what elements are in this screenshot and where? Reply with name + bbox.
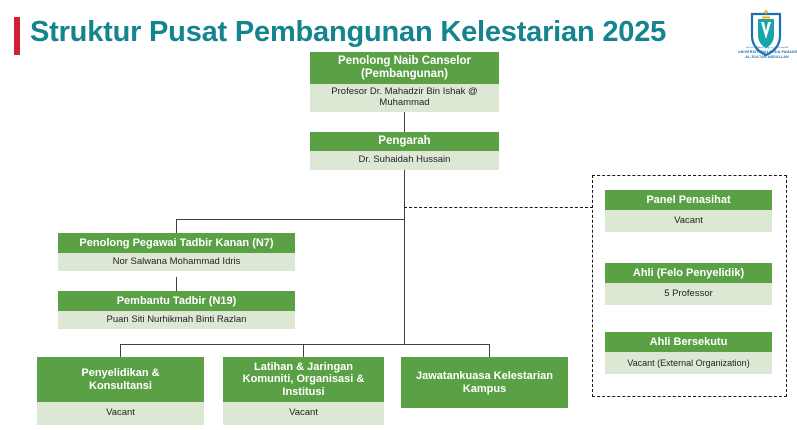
node-header: Penyelidikan & Konsultansi: [37, 357, 204, 402]
node-person-name: Vacant: [605, 210, 772, 232]
connector-pengarah-to-admin: [176, 219, 405, 220]
connector-pnc-to-pengarah: [404, 112, 405, 132]
node-header: Ahli (Felo Penyelidik): [605, 263, 772, 283]
node-header: Pengarah: [310, 132, 499, 151]
title-accent-bar: [14, 17, 20, 55]
page-title: Struktur Pusat Pembangunan Kelestarian 2…: [30, 16, 666, 49]
node-title-line2: (Pembangunan): [361, 68, 448, 81]
node-title-line3: Institusi: [282, 386, 324, 398]
logo-line1-text: UNIVERSITI MALAYSIA PAHANG: [738, 50, 796, 54]
connector-pengarah-trunk: [404, 170, 405, 344]
connector-bottom-bus: [120, 344, 490, 345]
connector-ppt-to-pembantu: [176, 277, 177, 291]
node-title-line1: Jawatankuasa Kelestarian: [416, 370, 553, 382]
node-ahli-felo-penyelidik[interactable]: Ahli (Felo Penyelidik) 5 Professor: [605, 263, 772, 305]
node-title-line1: Penyelidikan &: [81, 367, 159, 379]
connector-drop-penyelidikan: [120, 344, 121, 358]
node-penyelidikan-konsultansi[interactable]: Penyelidikan & Konsultansi Vacant: [37, 357, 204, 425]
connector-drop-latihan: [303, 344, 304, 358]
node-header: Panel Penasihat: [605, 190, 772, 210]
node-title-line2: Kampus: [463, 383, 506, 395]
logo-arabic-text: الجامعة الماليزية بهانج السلطان عبد الله: [738, 46, 796, 49]
node-header: Pembantu Tadbir (N19): [58, 291, 295, 311]
node-title-line1: Latihan & Jaringan: [254, 361, 353, 373]
node-header: Penolong Naib Canselor (Pembangunan): [310, 52, 499, 84]
node-penolong-pegawai-tadbir-kanan[interactable]: Penolong Pegawai Tadbir Kanan (N7) Nor S…: [58, 233, 295, 271]
node-person-name: Puan Siti Nurhikmah Binti Razlan: [58, 311, 295, 329]
org-chart-slide: Struktur Pusat Pembangunan Kelestarian 2…: [0, 0, 797, 430]
node-panel-penasihat[interactable]: Panel Penasihat Vacant: [605, 190, 772, 232]
node-title-line2: Konsultansi: [89, 380, 152, 392]
node-header: Latihan & Jaringan Komuniti, Organisasi …: [223, 357, 384, 402]
node-ahli-bersekutu[interactable]: Ahli Bersekutu Vacant (External Organiza…: [605, 332, 772, 374]
node-title-line2: Komuniti, Organisasi &: [243, 373, 365, 385]
connector-drop-jawatankuasa: [489, 344, 490, 357]
node-person-name: Vacant: [223, 402, 384, 425]
node-latihan-jaringan-komuniti[interactable]: Latihan & Jaringan Komuniti, Organisasi …: [223, 357, 384, 425]
node-jawatankuasa-kelestarian-kampus[interactable]: Jawatankuasa Kelestarian Kampus: [401, 357, 568, 408]
node-person-name: 5 Professor: [605, 283, 772, 305]
node-pengarah[interactable]: Pengarah Dr. Suhaidah Hussain: [310, 132, 499, 170]
node-header: Ahli Bersekutu: [605, 332, 772, 352]
node-pembantu-tadbir[interactable]: Pembantu Tadbir (N19) Puan Siti Nurhikma…: [58, 291, 295, 329]
node-penolong-naib-canselor[interactable]: Penolong Naib Canselor (Pembangunan) Pro…: [310, 52, 499, 112]
node-person-name: Vacant (External Organization): [605, 352, 772, 374]
node-person-name: Nor Salwana Mohammad Idris: [58, 253, 295, 271]
node-person-name: Dr. Suhaidah Hussain: [310, 151, 499, 170]
logo-line2-text: AL-SULTAN ABDULLAH: [738, 55, 796, 59]
connector-drop-to-ppt: [176, 219, 177, 233]
node-person-name: Vacant: [37, 402, 204, 425]
node-header: Jawatankuasa Kelestarian Kampus: [401, 357, 568, 408]
node-person-name: Profesor Dr. Mahadzir Bin Ishak @ Muhamm…: [310, 84, 499, 112]
node-title-line1: Penolong Naib Canselor: [338, 55, 471, 68]
connector-dashed-to-advisory: [404, 207, 593, 208]
node-header: Penolong Pegawai Tadbir Kanan (N7): [58, 233, 295, 253]
